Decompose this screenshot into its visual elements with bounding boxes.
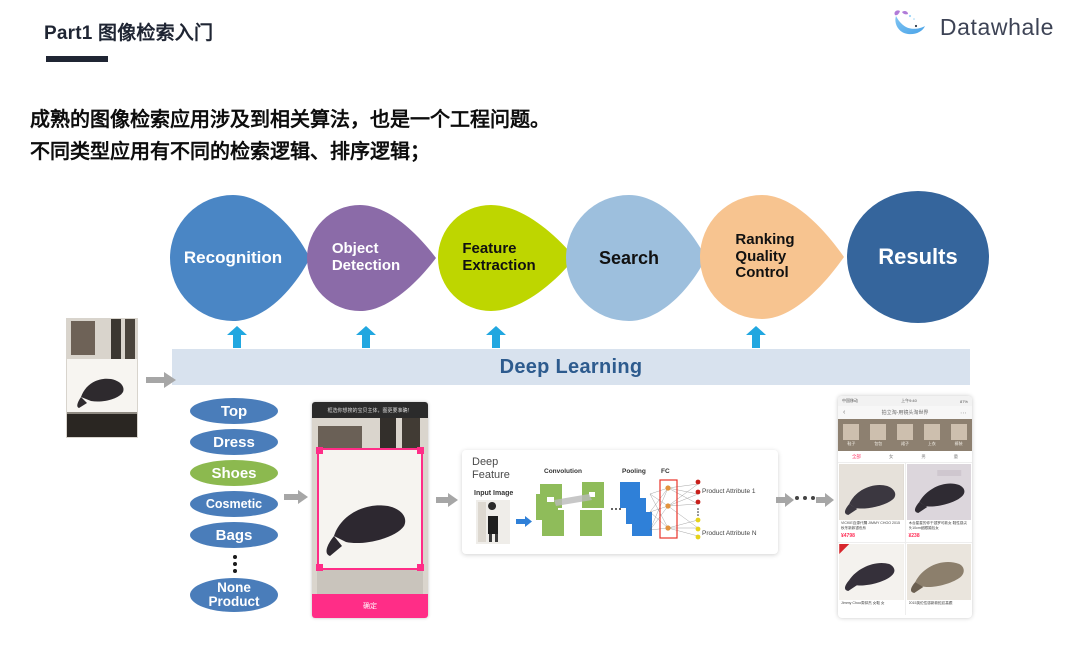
product-title: VICKIE百源代購 JIMMY CHOO 2015秋冬新款银色系 [841,521,902,532]
category-list: Top Dress Shoes Cosmetic Bags None Produ… [190,398,280,617]
pipeline-node-label: Ranking Quality Control [735,232,794,282]
nav-title: 拍立淘-用镜头淘世界 [882,409,929,416]
pipeline-node-object-detection[interactable]: Object Detection [306,203,438,313]
cnn-diagram-panel: Deep Feature Input Image Convolution [462,450,778,554]
pipeline-node-results[interactable]: Results [845,189,991,325]
lede-text: 成熟的图像检索应用涉及到相关算法，也是一个工程问题。 不同类型应用有不同的检索逻… [30,104,550,168]
pipeline-node-label: Recognition [184,248,282,267]
product-title: Jimmy Choo周仰杰 女鞋 女 [841,601,902,612]
page-title: Part1 图像检索入门 [44,18,213,45]
category-pill-cosmetic[interactable]: Cosmetic [190,491,278,517]
cnn-title-line-1: Deep [472,456,510,469]
pipeline-diagram: Recognition Object Detection Feature Ext… [0,185,1080,335]
tab-kids[interactable]: 童 [954,454,959,460]
status-battery: 87% [960,399,968,404]
product-card[interactable]: 木台星星的你干颈罗可款女 鞋性感尖头10cm细跟婚包女 ¥238 [906,463,973,542]
tab-all[interactable]: 全部 [852,454,861,460]
pipeline-node-search[interactable]: Search [566,193,708,323]
flow-arrow-4-icon [776,493,794,512]
cnn-blue-arrow-icon [516,516,532,527]
category-label: None Product [208,581,259,609]
product-card[interactable]: 2015英伦性感新款蛇纹高跟 [906,543,973,615]
deep-learning-label: Deep Learning [500,356,643,379]
deep-learning-bar: Deep Learning [172,349,970,385]
crop-confirm-button[interactable]: 确定 [312,594,428,618]
product-card[interactable]: VICKIE百源代購 JIMMY CHOO 2015秋冬新款银色系 ¥4798 [838,463,905,542]
product-title: 2015英伦性感新款蛇纹高跟 [909,601,970,612]
crop-stage[interactable] [312,418,428,594]
category-icon-label: 鞋子 [847,441,855,447]
phone-status-bar: 中国移动 上午9:40 87% [838,396,972,406]
lede-line-2: 不同类型应用有不同的检索逻辑、排序逻辑； [30,136,550,168]
up-arrow-icon-1 [227,326,247,348]
pipeline-node-feature-extraction[interactable]: Feature Extraction [437,203,577,313]
crop-hint-bar: 框选你想搜的宝贝主体，图更要准确！ [312,402,428,418]
crop-hint-text: 框选你想搜的宝贝主体，图更要准确！ [327,407,412,414]
category-icon-label: 裤装 [955,441,963,447]
flow-arrow-3-icon [436,493,458,512]
category-icon-item[interactable]: 裙子 [892,419,919,451]
up-arrow-icon-2 [356,326,376,348]
shoe-image-icon [839,464,904,520]
up-arrow-icon-3 [486,326,506,348]
crop-handle-tr[interactable] [417,447,424,454]
flow-arrow-5-icon [816,493,834,512]
status-carrier: 中国移动 [842,398,858,404]
category-icon-item[interactable]: 裤装 [945,419,972,451]
category-pill-shoes[interactable]: Shoes [190,460,278,486]
product-thumb [907,464,972,520]
product-title: 木台星星的你干颈罗可款女 鞋性感尖头10cm细跟婚包女 [909,521,970,532]
cnn-input-thumb-icon [476,500,510,544]
crop-phone-mockup[interactable]: 框选你想搜的宝贝主体，图更要准确！ 确定 [312,402,428,618]
crop-confirm-label: 确定 [363,601,377,611]
pipeline-node-recognition[interactable]: Recognition [170,193,312,323]
brand-name: Datawhale [940,14,1054,41]
cnn-title-line-2: Feature [472,469,510,482]
results-phone-mockup[interactable]: 中国移动 上午9:40 87% ‹ 拍立淘-用镜头淘世界 ⋯ 鞋子 包包 裙子 … [838,396,972,618]
flow-arrow-2-icon [284,490,308,509]
whale-logo-icon [890,8,930,47]
input-photo [66,318,138,438]
tab-women[interactable]: 女 [889,454,894,460]
category-label: Top [221,404,247,419]
pipeline-node-label: Object Detection [332,241,400,275]
bag-thumb-icon [870,424,886,440]
shoe-image-icon [907,544,972,600]
phone-nav-bar: ‹ 拍立淘-用镜头淘世界 ⋯ [838,406,972,419]
filter-tabs[interactable]: 全部 女 男 童 [838,451,972,463]
crop-handle-bl[interactable] [316,564,323,571]
product-thumb [839,464,904,520]
pants-thumb-icon [951,424,967,440]
category-icon-label: 裙子 [901,441,909,447]
product-card[interactable]: Jimmy Choo周仰杰 女鞋 女 [838,543,905,615]
cnn-fc-label: FC [661,468,670,475]
crop-selection-box[interactable] [317,448,423,570]
shoe-image-icon [907,464,972,520]
title-underline [46,56,108,62]
lede-line-1: 成熟的图像检索应用涉及到相关算法，也是一个工程问题。 [30,104,550,136]
skirt-thumb-icon [897,424,913,440]
category-label: Dress [213,435,255,450]
shoe-thumb-icon [843,424,859,440]
cnn-conv-label: Convolution [544,468,582,475]
cnn-pooling-label: Pooling [622,468,646,475]
category-icon-item[interactable]: 包包 [865,419,892,451]
flow-ellipsis-icon [795,496,815,500]
category-pill-top[interactable]: Top [190,398,278,424]
pipeline-node-label: Results [878,245,957,270]
pipeline-node-label: Search [599,248,659,268]
product-thumb [839,544,904,600]
product-price: ¥4798 [841,533,902,539]
category-icon-label: 包包 [874,441,882,447]
more-icon[interactable]: ⋯ [960,409,967,417]
cnn-input-label: Input Image [474,490,513,497]
status-time: 上午9:40 [901,398,917,404]
category-pill-bags[interactable]: Bags [190,522,278,548]
crop-handle-br[interactable] [417,564,424,571]
up-arrow-icon-4 [746,326,766,348]
flow-arrow-1-icon [146,372,176,393]
category-label: Bags [216,528,253,543]
category-pill-dress[interactable]: Dress [190,429,278,455]
pipeline-node-label: Feature Extraction [462,241,535,275]
product-thumb [907,544,972,600]
category-icon-label: 上衣 [928,441,936,447]
category-icon-item[interactable]: 上衣 [918,419,945,451]
brand-logo: Datawhale [890,8,1054,47]
category-icon-item[interactable]: 鞋子 [838,419,865,451]
vertical-ellipsis-icon [190,553,280,575]
product-price: ¥238 [909,533,970,539]
cnn-title: Deep Feature [472,456,510,481]
shoe-image-icon [839,544,904,600]
category-icon-row[interactable]: 鞋子 包包 裙子 上衣 裤装 [838,419,972,451]
product-grid: VICKIE百源代購 JIMMY CHOO 2015秋冬新款银色系 ¥4798 … [838,463,972,615]
tab-men[interactable]: 男 [921,454,926,460]
cnn-output-label-bottom: Product Attribute N [702,530,757,537]
chevron-left-icon[interactable]: ‹ [843,409,845,416]
cnn-output-label-top: Product Attribute 1 [702,488,755,495]
pipeline-node-ranking-quality-control[interactable]: Ranking Quality Control [700,193,846,321]
top-thumb-icon [924,424,940,440]
slide-root: Part1 图像检索入门 Datawhale 成熟的图像检索应用涉及到相关算法，… [0,0,1080,652]
shoe-display-photo-icon [67,319,138,438]
category-pill-none-product[interactable]: None Product [190,578,278,612]
category-label: Shoes [211,466,256,481]
crop-handle-tl[interactable] [316,447,323,454]
category-label: Cosmetic [206,498,262,511]
